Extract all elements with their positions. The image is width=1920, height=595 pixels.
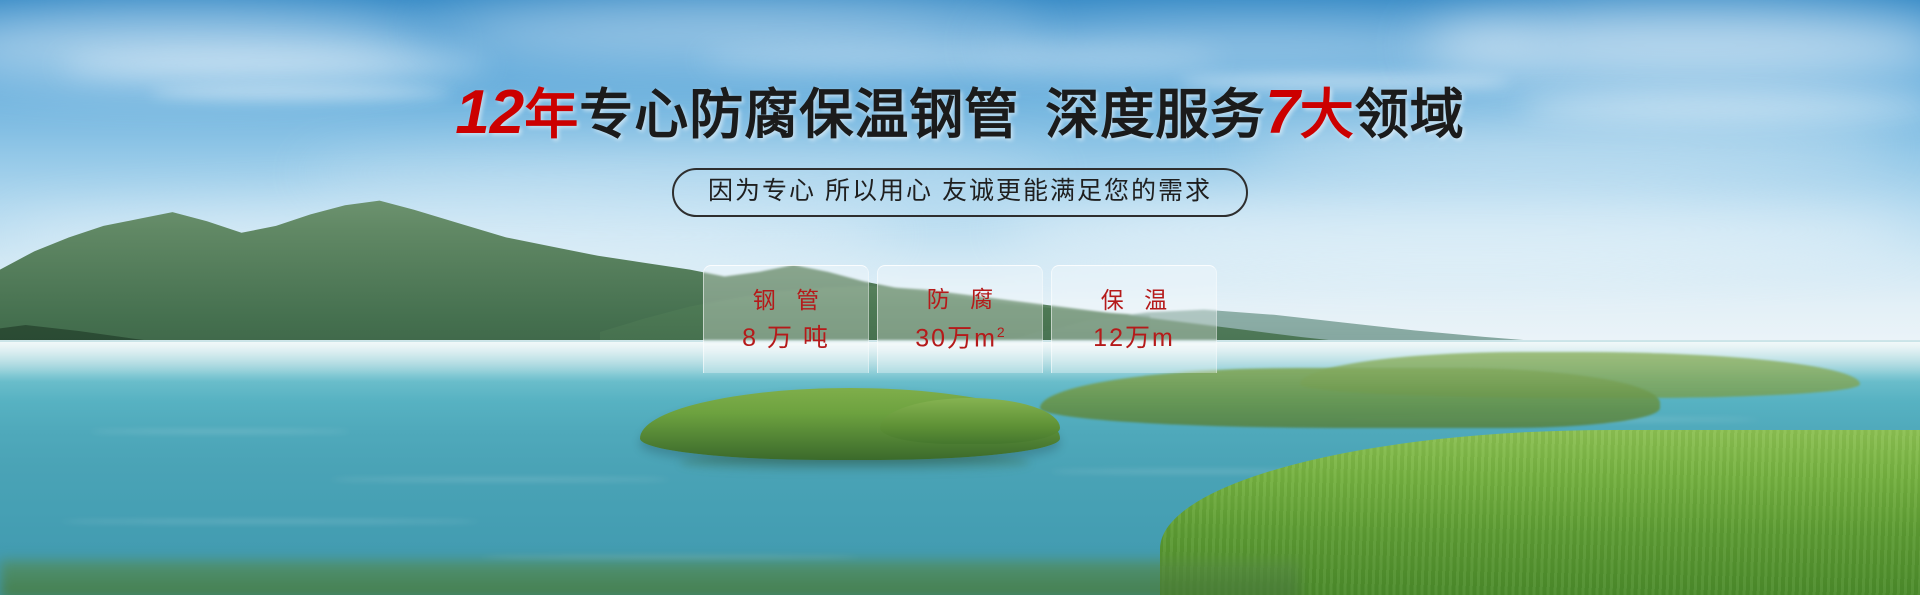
stat-card-anticorrosion[interactable]: 防 腐 30万m2 <box>877 265 1043 373</box>
stat-card-value: 30万m2 <box>915 325 1004 351</box>
stat-card-group: 钢 管 8 万 吨 防 腐 30万m2 保 温 12万m <box>0 265 1920 373</box>
stat-card-value-text: 8 万 吨 <box>742 324 830 352</box>
banner-subtitle: 因为专心 所以用心 友诚更能满足您的需求 <box>672 168 1248 217</box>
shoreline-bank <box>0 560 1300 595</box>
headline-years-unit: 年 <box>524 85 579 145</box>
stat-card-value-text: 12万m <box>1093 324 1175 352</box>
headline-service-text: 深度服务 <box>1045 85 1265 145</box>
stat-card-value-superscript: 2 <box>997 324 1005 340</box>
stat-card-value: 12万m <box>1093 326 1175 351</box>
stat-card-value: 8 万 吨 <box>742 326 830 351</box>
water-ripple <box>480 556 860 559</box>
water-ripple <box>90 430 350 433</box>
stat-card-steel-pipe[interactable]: 钢 管 8 万 吨 <box>703 265 869 373</box>
banner-subtitle-wrap: 因为专心 所以用心 友诚更能满足您的需求 <box>0 168 1920 217</box>
headline-fields-number: 7 <box>1265 78 1299 147</box>
stat-card-title: 防 腐 <box>920 288 1000 311</box>
stat-card-insulation[interactable]: 保 温 12万m <box>1051 265 1217 373</box>
hero-banner: 12年专心防腐保温钢管深度服务7大领域 因为专心 所以用心 友诚更能满足您的需求… <box>0 0 1920 595</box>
stat-card-value-text: 30万m <box>915 324 997 352</box>
headline-fields-tail: 领域 <box>1355 85 1465 145</box>
water-ripple <box>60 520 480 523</box>
marsh-near <box>1040 368 1660 428</box>
headline-fields-unit: 大 <box>1300 85 1355 145</box>
stat-card-title: 保 温 <box>1094 289 1174 312</box>
stat-card-title: 钢 管 <box>746 289 826 312</box>
banner-headline: 12年专心防腐保温钢管深度服务7大领域 <box>0 82 1920 144</box>
water-ripple <box>330 478 670 481</box>
headline-main-text: 专心防腐保温钢管 <box>579 85 1019 145</box>
headline-years-number: 12 <box>455 78 524 147</box>
